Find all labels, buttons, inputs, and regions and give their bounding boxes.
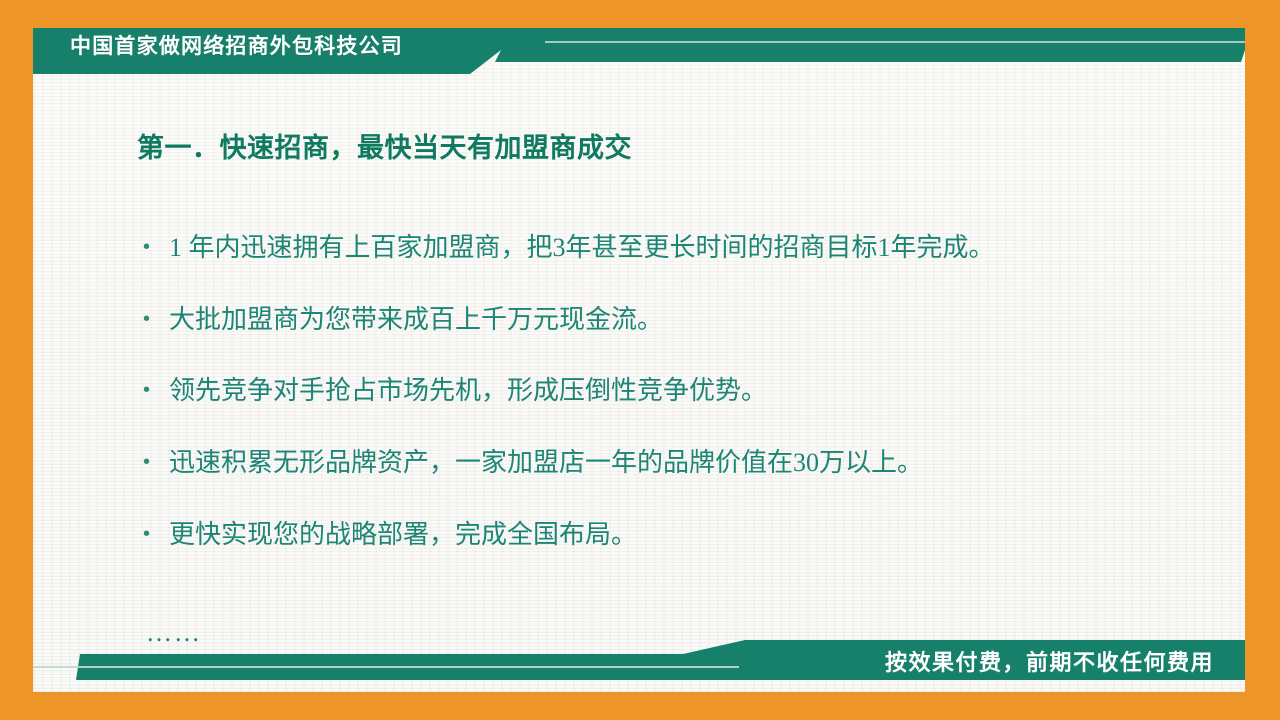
- header-title: 中国首家做网络招商外包科技公司: [70, 36, 403, 57]
- bullet-dot-icon: •: [143, 380, 169, 400]
- list-item: • 大批加盟商为您带来成百上千万元现金流。: [143, 304, 1203, 336]
- bullet-dot-icon: •: [143, 309, 169, 329]
- bullet-dot-icon: •: [143, 524, 169, 544]
- list-item-text: 更快实现您的战略部署，完成全国布局。: [169, 519, 637, 551]
- list-item: • 更快实现您的战略部署，完成全国布局。: [143, 519, 1203, 551]
- ellipsis-text: ……: [146, 620, 202, 646]
- slide-root: 中国首家做网络招商外包科技公司 第一．快速招商，最快当天有加盟商成交 • 1 年…: [0, 0, 1280, 720]
- section-title: 第一．快速招商，最快当天有加盟商成交: [137, 135, 632, 162]
- list-item: • 1 年内迅速拥有上百家加盟商，把3年甚至更长时间的招商目标1年完成。: [143, 232, 1203, 264]
- bullet-dot-icon: •: [143, 452, 169, 472]
- footer-tagline: 按效果付费，前期不收任何费用: [885, 648, 1214, 679]
- list-item-text: 大批加盟商为您带来成百上千万元现金流。: [169, 304, 663, 336]
- list-item-text: 领先竞争对手抢占市场先机，形成压倒性竞争优势。: [169, 375, 767, 407]
- list-item: • 迅速积累无形品牌资产，一家加盟店一年的品牌价值在30万以上。: [143, 447, 1203, 479]
- list-item-text: 1 年内迅速拥有上百家加盟商，把3年甚至更长时间的招商目标1年完成。: [169, 232, 995, 264]
- bullet-dot-icon: •: [143, 237, 169, 257]
- list-item: • 领先竞争对手抢占市场先机，形成压倒性竞争优势。: [143, 375, 1203, 407]
- list-item-text: 迅速积累无形品牌资产，一家加盟店一年的品牌价值在30万以上。: [169, 447, 923, 479]
- bullet-list: • 1 年内迅速拥有上百家加盟商，把3年甚至更长时间的招商目标1年完成。 • 大…: [143, 232, 1203, 591]
